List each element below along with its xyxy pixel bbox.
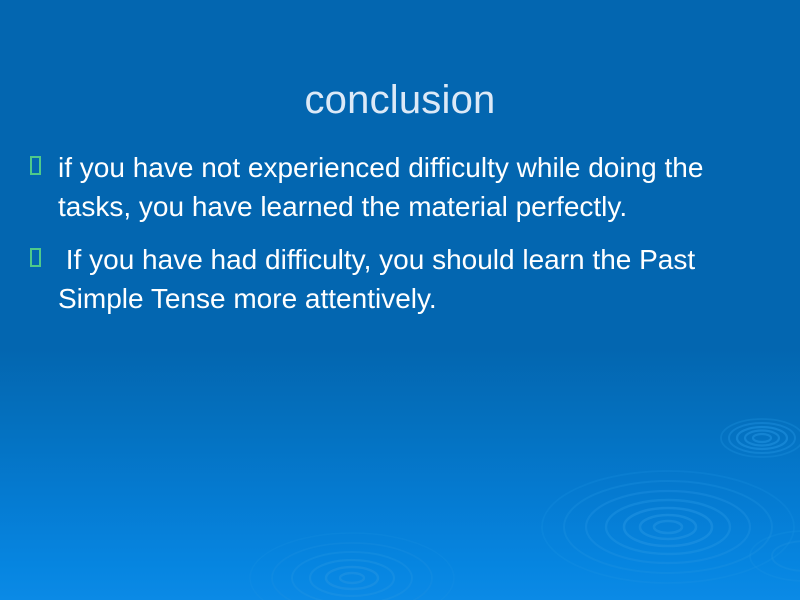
slide-title: conclusion: [0, 75, 800, 125]
missing-glyph-box-icon: [30, 248, 41, 267]
bullet-list-item: If you have had difficulty, you should l…: [30, 240, 770, 318]
bullet-text: If you have had difficulty, you should l…: [58, 240, 770, 318]
bullet-marker: [30, 240, 58, 267]
bullet-marker: [30, 148, 58, 175]
bullet-text: if you have not experienced difficulty w…: [58, 148, 770, 226]
missing-glyph-box-icon: [30, 156, 41, 175]
presentation-slide: conclusion if you have not experienced d…: [0, 0, 800, 600]
slide-body: if you have not experienced difficulty w…: [30, 148, 770, 318]
bullet-list-item: if you have not experienced difficulty w…: [30, 148, 770, 226]
